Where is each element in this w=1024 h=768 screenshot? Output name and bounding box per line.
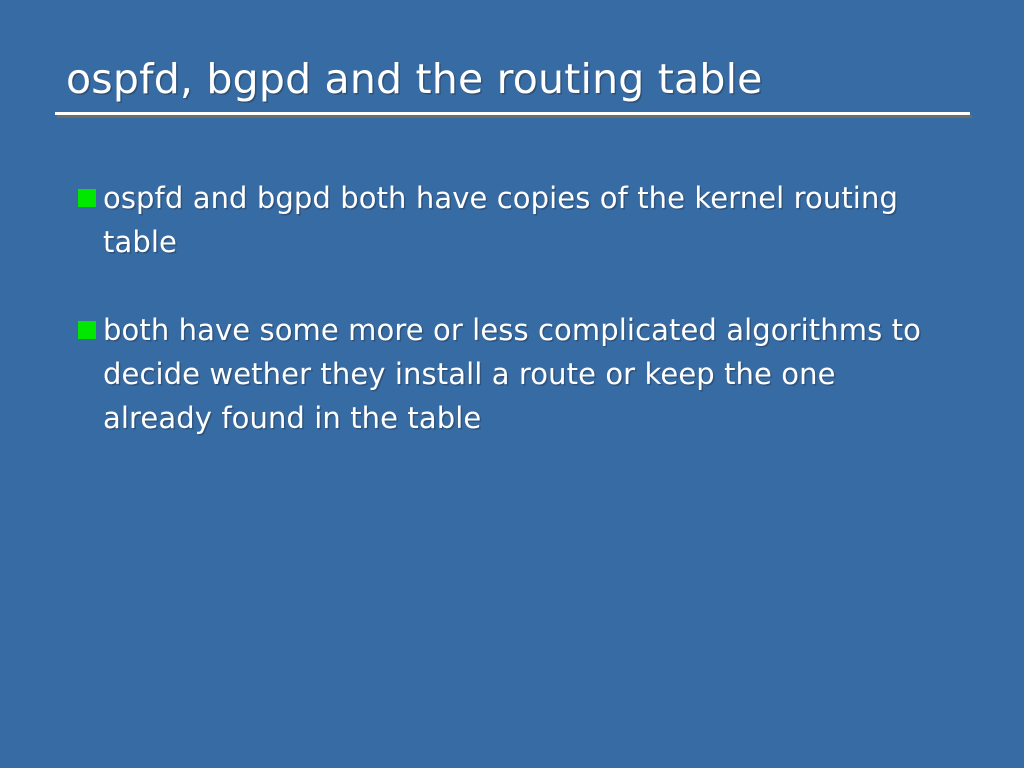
bullet-text: both have some more or less complicated … xyxy=(103,308,943,440)
square-bullet-icon xyxy=(78,189,96,207)
list-item: ospfd and bgpd both have copies of the k… xyxy=(78,176,958,264)
bullet-text: ospfd and bgpd both have copies of the k… xyxy=(103,176,958,264)
title-rule-shadow xyxy=(57,115,972,118)
title-underline-rule xyxy=(55,112,970,118)
square-bullet-icon xyxy=(78,321,96,339)
title-block: ospfd, bgpd and the routing table xyxy=(55,52,970,118)
slide-canvas: ospfd, bgpd and the routing table ospfd … xyxy=(0,0,1024,768)
list-item: both have some more or less complicated … xyxy=(78,308,958,440)
page-title: ospfd, bgpd and the routing table xyxy=(55,52,970,106)
title-rule-line xyxy=(55,112,970,115)
bullet-list: ospfd and bgpd both have copies of the k… xyxy=(78,176,958,440)
